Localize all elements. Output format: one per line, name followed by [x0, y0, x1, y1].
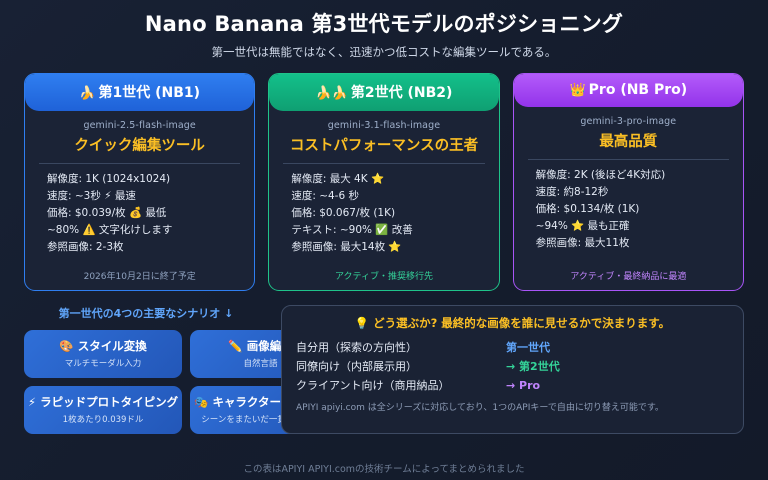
spec-row: テキスト: ~90% ✅ 改善 — [291, 222, 486, 239]
chooser-row-value: 第一世代 — [506, 338, 550, 357]
model-specs-pro: 解像度: 2K (後ほど4K対応) 速度: 約8-12秒 価格: $0.134/… — [526, 167, 731, 252]
palette-icon: 🎨 — [59, 339, 73, 353]
model-status-nb2: アクティブ・推奨移行先 — [281, 261, 486, 282]
scenario-tag-grid: 🎨 スタイル変換 マルチモーダル入力 ✏️ 画像編集 自然言語 ⚡ ラピッドプロ… — [24, 330, 268, 434]
chooser-note: APIYI apiyi.com は全シリーズに対応しており、1つのAPIキーで自… — [296, 400, 729, 413]
spec-row: 速度: ~3秒 ⚡ 最速 — [47, 188, 242, 205]
spec-row: ~80% ⚠️ 文字化けします — [47, 222, 242, 239]
spec-row: 価格: $0.067/枚 (1K) — [291, 205, 486, 222]
model-status-pro: アクティブ・最終納品に最適 — [526, 261, 731, 282]
spec-row: 参照画像: 2-3枚 — [47, 239, 242, 256]
model-card-nb2-title: 第2世代 (NB2) — [351, 85, 453, 101]
scenario-panel: 第一世代の4つの主要なシナリオ ↓ 🎨 スタイル変換 マルチモーダル入力 ✏️ … — [24, 305, 268, 434]
page-subtitle: 第一世代は無能ではなく、迅速かつ低コストな編集ツールである。 — [0, 44, 768, 60]
scenario-tag-sub: マルチモーダル入力 — [28, 357, 178, 369]
theater-masks-icon: 🎭 — [194, 395, 208, 409]
spec-row: 価格: $0.039/枚 💰 最低 — [47, 205, 242, 222]
model-tagline-nb1: クイック編集ツール — [37, 134, 242, 155]
spec-row: 解像度: 2K (後ほど4K対応) — [536, 167, 731, 184]
model-card-pro-title: Pro (NB Pro) — [589, 82, 688, 98]
model-card-pro-body: gemini-3-pro-image 最高品質 解像度: 2K (後ほど4K対応… — [514, 107, 743, 290]
scenario-tag-style-transfer[interactable]: 🎨 スタイル変換 マルチモーダル入力 — [24, 330, 182, 378]
page-footer-credit: この表はAPIYI APIYI.comの技術チームによってまとめられました — [0, 461, 768, 475]
model-card-nb1-header: 🍌第1世代 (NB1) — [25, 74, 254, 111]
crown-icon: 👑 — [569, 83, 585, 98]
page-title: Nano Banana 第3世代モデルのポジショニング — [0, 11, 768, 38]
model-card-nb2[interactable]: 🍌🍌第2世代 (NB2) gemini-3.1-flash-image コストパ… — [268, 73, 499, 291]
scenario-panel-title: 第一世代の4つの主要なシナリオ ↓ — [24, 305, 268, 321]
model-card-nb1-body: gemini-2.5-flash-image クイック編集ツール 解像度: 1K… — [25, 111, 254, 290]
chooser-row-value: → Pro — [506, 376, 540, 395]
divider — [39, 163, 240, 164]
spec-row: 参照画像: 最大14枚 ⭐ — [291, 239, 486, 256]
chooser-title: 💡 どう選ぶか? 最終的な画像を誰に見せるかで決まります。 — [296, 315, 729, 331]
model-card-nb1[interactable]: 🍌第1世代 (NB1) gemini-2.5-flash-image クイック編… — [24, 73, 255, 291]
chooser-row-label: 同僚向け（内部展示用） — [296, 357, 506, 376]
model-card-pro[interactable]: 👑Pro (NB Pro) gemini-3-pro-image 最高品質 解像… — [513, 73, 744, 291]
scenario-label-text: スタイル変換 — [78, 339, 147, 353]
model-card-pro-header: 👑Pro (NB Pro) — [514, 74, 743, 107]
chooser-row: 同僚向け（内部展示用） → 第2世代 — [296, 357, 729, 376]
pencil-icon: ✏️ — [228, 339, 242, 353]
page-header: Nano Banana 第3世代モデルのポジショニング 第一世代は無能ではなく、… — [0, 0, 768, 60]
banana-icon: 🍌🍌 — [316, 86, 348, 101]
spec-row: 価格: $0.134/枚 (1K) — [536, 201, 731, 218]
model-id-nb2: gemini-3.1-flash-image — [281, 120, 486, 131]
spec-row: 速度: ~4-6 秒 — [291, 188, 486, 205]
divider — [283, 163, 484, 164]
model-status-nb1: 2026年10月2日に終了予定 — [37, 261, 242, 282]
scenario-label-text: ラピッドプロトタイピング — [40, 395, 178, 409]
spec-row: 解像度: 1K (1024x1024) — [47, 171, 242, 188]
model-tagline-pro: 最高品質 — [526, 130, 731, 151]
chooser-row: 自分用（探索の方向性） 第一世代 — [296, 338, 729, 357]
model-id-pro: gemini-3-pro-image — [526, 116, 731, 127]
chooser-row: クライアント向け（商用納品） → Pro — [296, 376, 729, 395]
model-specs-nb2: 解像度: 最大 4K ⭐ 速度: ~4-6 秒 価格: $0.067/枚 (1K… — [281, 171, 486, 256]
model-id-nb1: gemini-2.5-flash-image — [37, 120, 242, 131]
chooser-row-label: クライアント向け（商用納品） — [296, 376, 506, 395]
chooser-row-value: → 第2世代 — [506, 357, 560, 376]
model-specs-nb1: 解像度: 1K (1024x1024) 速度: ~3秒 ⚡ 最速 価格: $0.… — [37, 171, 242, 256]
chooser-row-label: 自分用（探索の方向性） — [296, 338, 506, 357]
model-card-nb2-header: 🍌🍌第2世代 (NB2) — [269, 74, 498, 111]
model-card-nb1-title: 第1世代 (NB1) — [98, 85, 200, 101]
scenario-tag-label: ⚡ ラピッドプロトタイピング — [28, 395, 178, 410]
chooser-panel: 💡 どう選ぶか? 最終的な画像を誰に見せるかで決まります。 自分用（探索の方向性… — [281, 305, 744, 434]
spec-row: 解像度: 最大 4K ⭐ — [291, 171, 486, 188]
banana-icon: 🍌 — [79, 86, 95, 101]
spec-row: 速度: 約8-12秒 — [536, 184, 731, 201]
spec-row: ~94% ⭐ 最も正確 — [536, 218, 731, 235]
lightning-icon: ⚡ — [28, 395, 36, 409]
spec-row: 参照画像: 最大11枚 — [536, 235, 731, 252]
page-root: Nano Banana 第3世代モデルのポジショニング 第一世代は無能ではなく、… — [0, 0, 768, 480]
model-card-row: 🍌第1世代 (NB1) gemini-2.5-flash-image クイック編… — [0, 60, 768, 291]
scenario-tag-label: 🎨 スタイル変換 — [28, 339, 178, 354]
scenario-tag-sub: 1枚あたり0.039ドル — [28, 413, 178, 425]
model-tagline-nb2: コストパフォーマンスの王者 — [281, 134, 486, 155]
model-card-nb2-body: gemini-3.1-flash-image コストパフォーマンスの王者 解像度… — [269, 111, 498, 290]
scenario-tag-rapid-prototyping[interactable]: ⚡ ラピッドプロトタイピング 1枚あたり0.039ドル — [24, 386, 182, 434]
divider — [528, 159, 729, 160]
bottom-section: 第一世代の4つの主要なシナリオ ↓ 🎨 スタイル変換 マルチモーダル入力 ✏️ … — [0, 291, 768, 434]
